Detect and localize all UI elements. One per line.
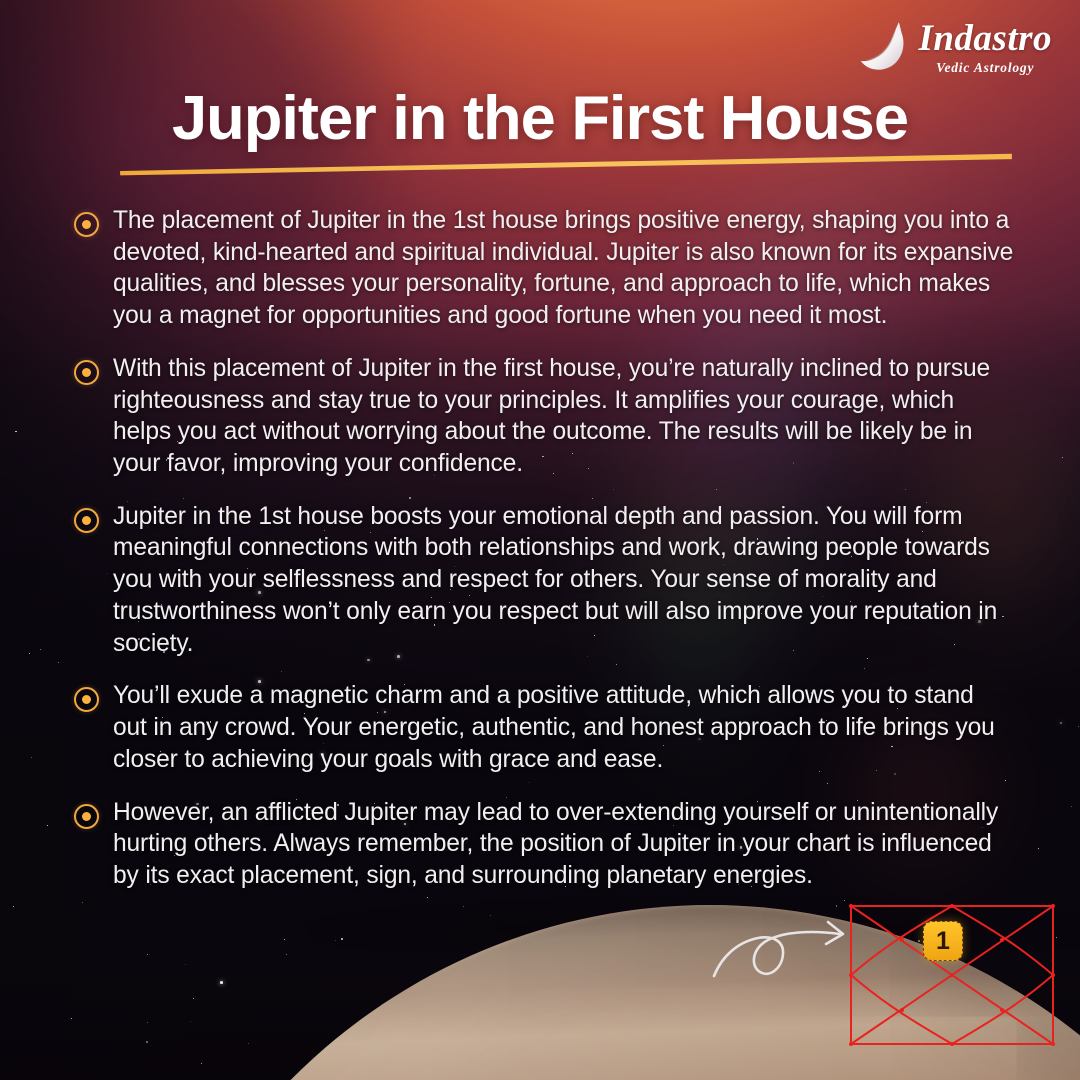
ring-dot-icon xyxy=(74,687,99,712)
bullet-text: You’ll exude a magnetic charm and a posi… xyxy=(113,680,1014,775)
ring-dot-center xyxy=(82,516,91,525)
curly-arrow-icon xyxy=(712,898,862,984)
title-underline xyxy=(120,153,1012,176)
north-indian-birth-chart: 1 xyxy=(848,903,1056,1047)
page-title: Jupiter in the First House xyxy=(0,88,1080,150)
bullet-text: With this placement of Jupiter in the fi… xyxy=(113,353,1014,480)
infographic-canvas: Indastro Vedic Astrology Jupiter in the … xyxy=(0,0,1080,1080)
bullet-item: The placement of Jupiter in the 1st hous… xyxy=(74,205,1014,332)
bullet-item: With this placement of Jupiter in the fi… xyxy=(74,353,1014,480)
bullet-text: The placement of Jupiter in the 1st hous… xyxy=(113,205,1014,332)
bullet-item: You’ll exude a magnetic charm and a posi… xyxy=(74,680,1014,775)
house-number-badge: 1 xyxy=(923,921,963,961)
bullet-text: However, an afflicted Jupiter may lead t… xyxy=(113,797,1014,892)
ring-dot-icon xyxy=(74,508,99,533)
brand-name: Indastro xyxy=(918,20,1052,57)
bullet-list: The placement of Jupiter in the 1st hous… xyxy=(74,205,1014,892)
ring-dot-center xyxy=(82,812,91,821)
bullet-item: Jupiter in the 1st house boosts your emo… xyxy=(74,501,1014,660)
bullet-text: Jupiter in the 1st house boosts your emo… xyxy=(113,501,1014,660)
crescent-moon-icon xyxy=(854,18,912,76)
brand-logo[interactable]: Indastro Vedic Astrology xyxy=(854,18,1052,76)
brand-tagline: Vedic Astrology xyxy=(936,61,1034,75)
ring-dot-center xyxy=(82,368,91,377)
ring-dot-center xyxy=(82,695,91,704)
ring-dot-icon xyxy=(74,360,99,385)
ring-dot-icon xyxy=(74,804,99,829)
ring-dot-center xyxy=(82,220,91,229)
bullet-item: However, an afflicted Jupiter may lead t… xyxy=(74,797,1014,892)
ring-dot-icon xyxy=(74,212,99,237)
